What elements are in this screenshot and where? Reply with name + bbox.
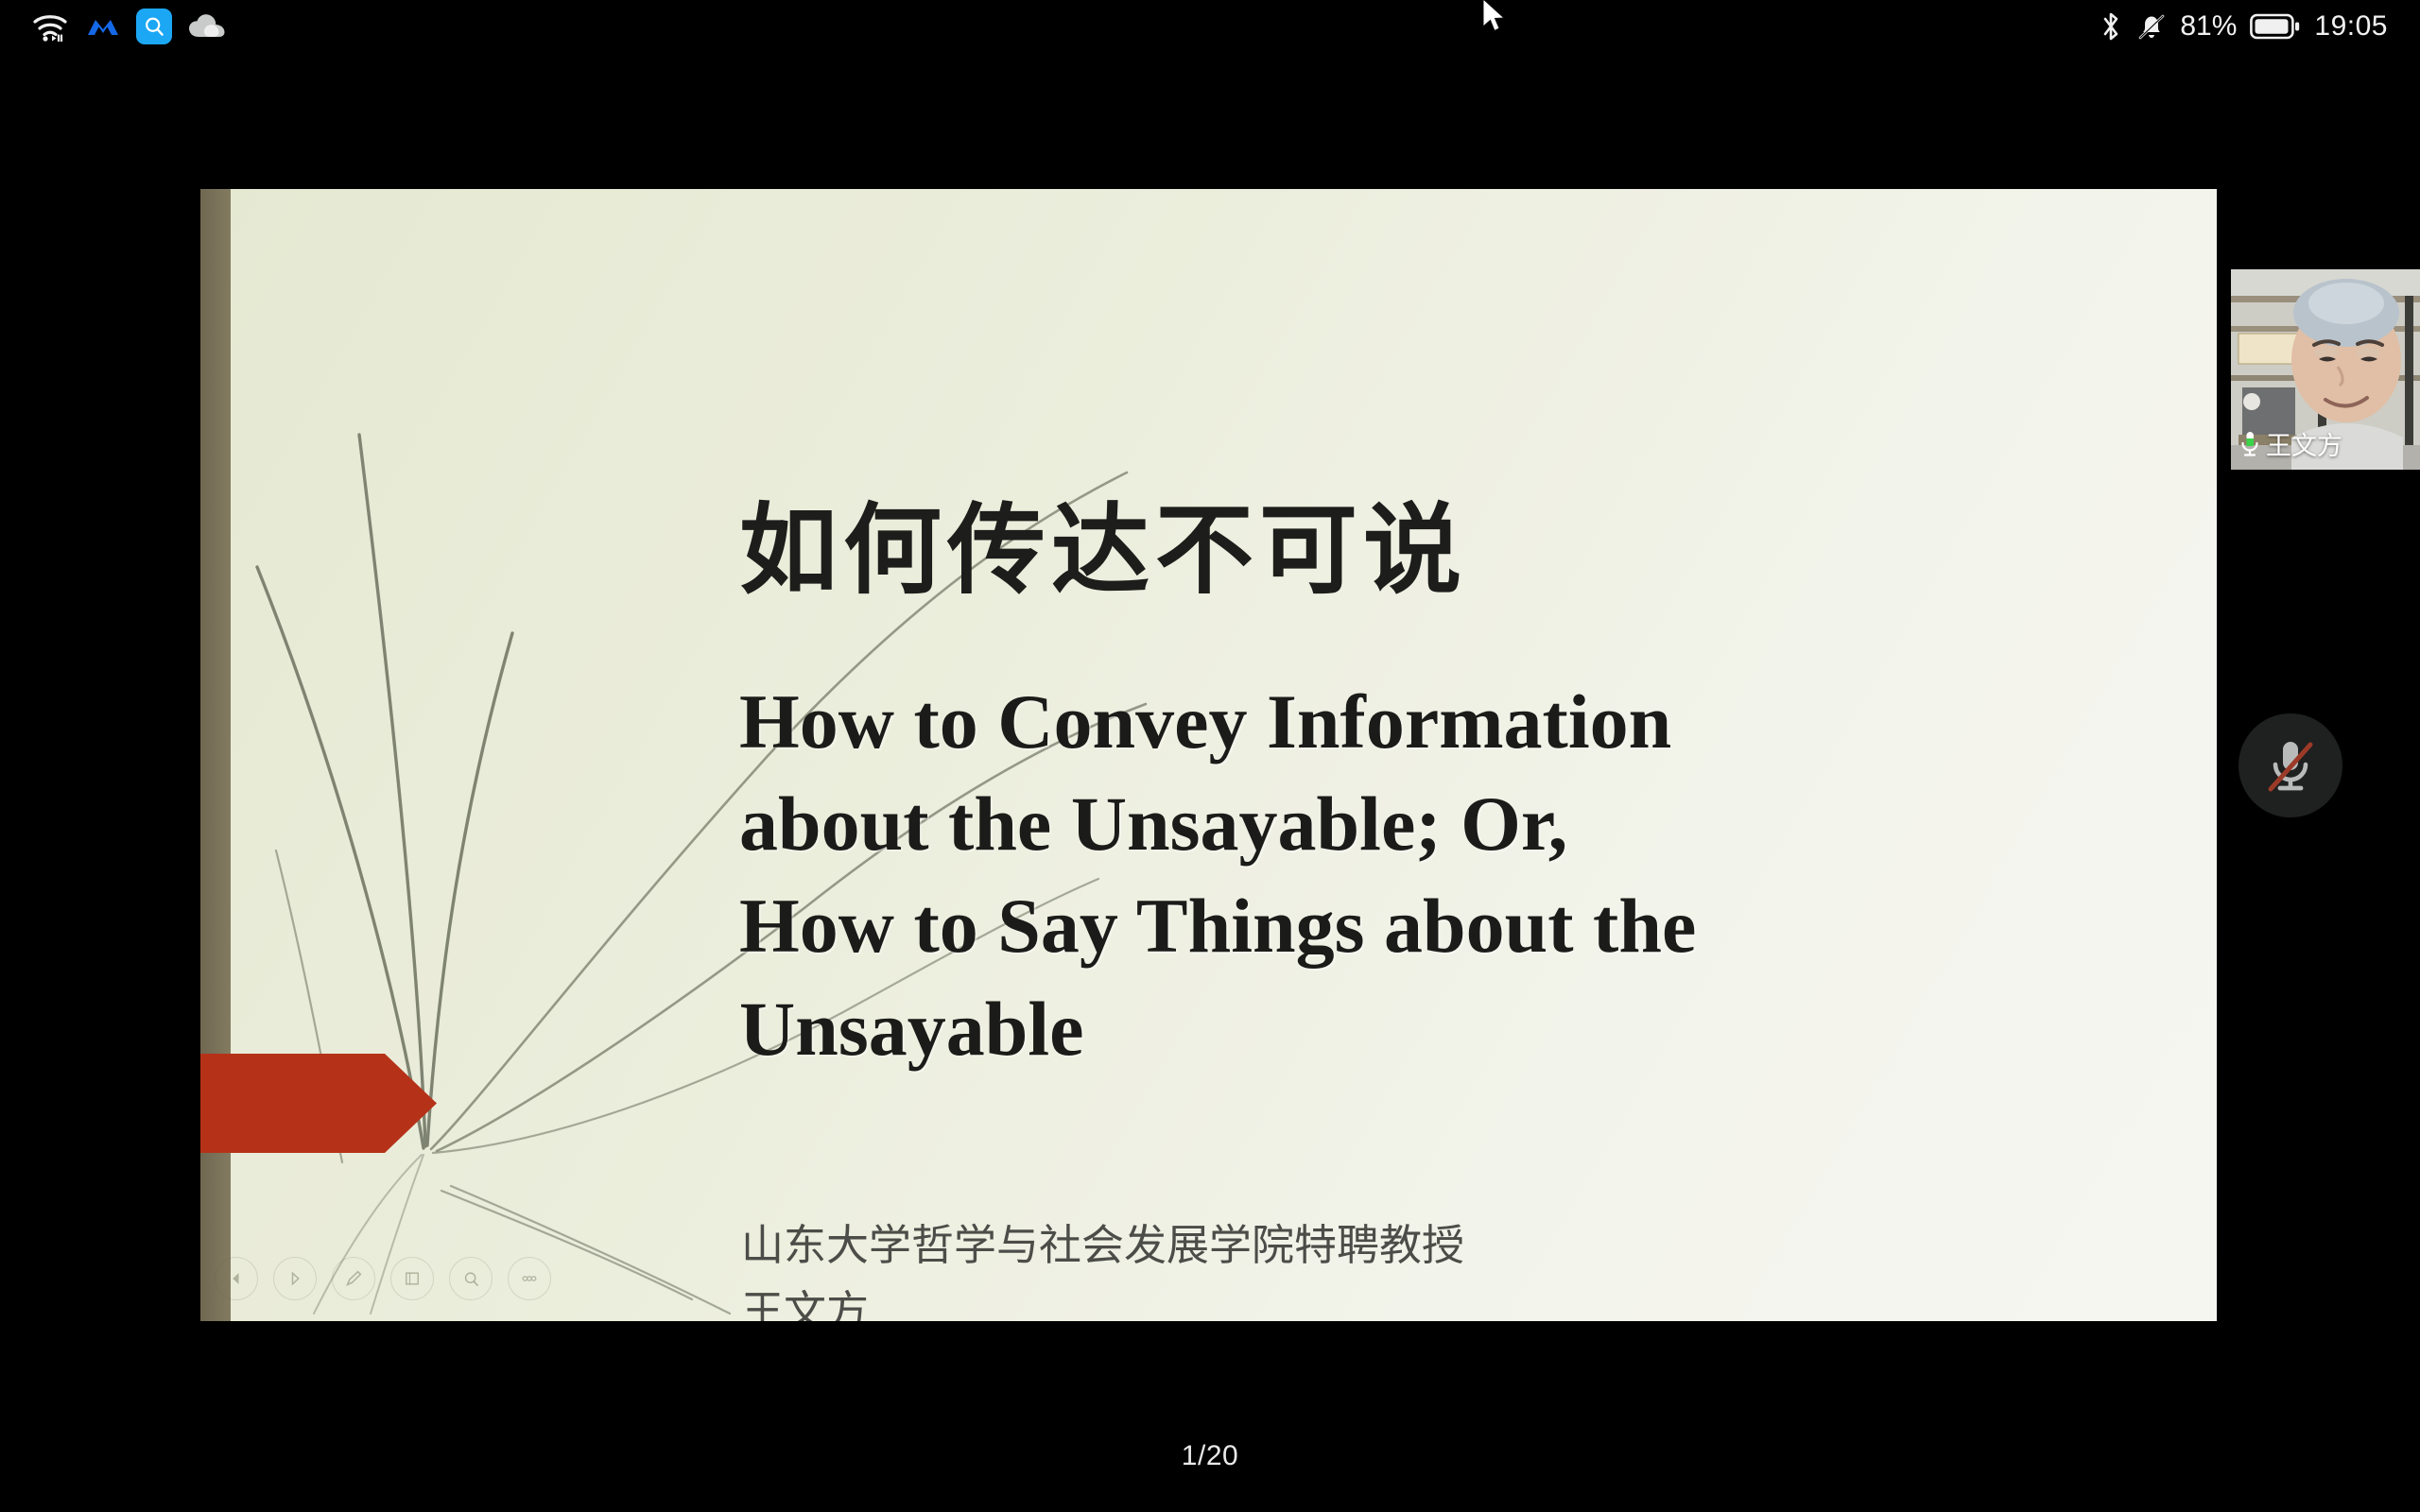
battery-icon bbox=[2250, 12, 2301, 41]
presentation-slide[interactable]: 如何传达不可说 How to Convey Information about … bbox=[200, 189, 2217, 1321]
cloud-icon[interactable] bbox=[187, 12, 227, 41]
bell-off-icon[interactable] bbox=[2136, 11, 2167, 42]
mic-off-icon bbox=[2263, 736, 2318, 795]
pen-button[interactable] bbox=[332, 1257, 375, 1300]
participant-video-tile[interactable]: 王文方 bbox=[2231, 269, 2420, 470]
status-bar: 81% 19:05 bbox=[0, 0, 2420, 53]
slide-title-english: How to Convey Information about the Unsa… bbox=[739, 671, 2082, 1080]
slide-title-english-line-4: Unsayable bbox=[739, 978, 2082, 1080]
slide-toolbar[interactable] bbox=[215, 1257, 551, 1300]
search-app-icon[interactable] bbox=[136, 9, 172, 44]
slide-title-english-line-1: How to Convey Information bbox=[739, 671, 2082, 773]
mic-muted-button[interactable] bbox=[2238, 713, 2342, 817]
slide-author-name: 王文方 bbox=[741, 1280, 1875, 1321]
slideshow-button[interactable] bbox=[390, 1257, 434, 1300]
slide-title-chinese: 如何传达不可说 bbox=[739, 501, 2063, 599]
slide-title-english-line-3: How to Say Things about the bbox=[739, 875, 2082, 977]
previous-slide-button[interactable] bbox=[215, 1257, 258, 1300]
zoom-button[interactable] bbox=[449, 1257, 493, 1300]
page-indicator: 1/20 bbox=[0, 1440, 2420, 1472]
participant-name-label: 王文方 bbox=[2266, 425, 2342, 462]
clock-label: 19:05 bbox=[2314, 10, 2388, 43]
messenger-icon[interactable] bbox=[85, 12, 121, 41]
status-bar-left-icons bbox=[32, 9, 227, 44]
battery-percent-label: 81% bbox=[2180, 10, 2237, 43]
wifi-icon[interactable] bbox=[32, 11, 70, 42]
bluetooth-icon[interactable] bbox=[2099, 10, 2123, 43]
slide-title-english-line-2: about the Unsayable; Or, bbox=[739, 773, 2082, 875]
mic-on-icon bbox=[2238, 430, 2261, 458]
slide-affiliation: 山东大学哲学与社会发展学院特聘教授 bbox=[741, 1214, 1875, 1276]
more-options-button[interactable] bbox=[508, 1257, 551, 1300]
mouse-cursor bbox=[1480, 0, 1509, 40]
participant-name-badge: 王文方 bbox=[2238, 425, 2342, 462]
status-bar-right-items: 81% 19:05 bbox=[2099, 10, 2388, 43]
next-slide-button[interactable] bbox=[273, 1257, 317, 1300]
slide-text-block: 如何传达不可说 How to Convey Information about … bbox=[739, 189, 2157, 1321]
